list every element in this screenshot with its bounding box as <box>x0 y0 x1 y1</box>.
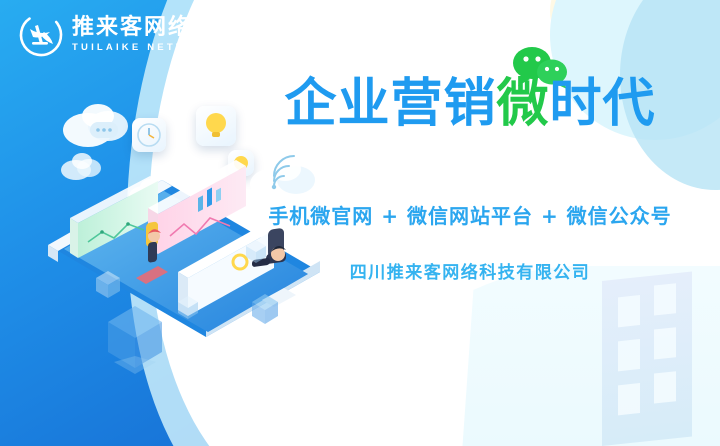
brand-logo[interactable]: 推来客网络 TUILAIKE NETWORK <box>18 12 219 58</box>
banner-content: 企业营销微时代 手机微官网 + 微信网站平台 + 微信公众号 四川推来客网络科技… <box>240 0 710 446</box>
company-name: 四川推来客网络科技有限公司 <box>240 258 700 283</box>
headline-part-1: 企业营销 <box>284 74 496 134</box>
brand-logo-text: 推来客网络 TUILAIKE NETWORK <box>72 17 219 53</box>
brand-name-cn: 推来客网络 <box>72 17 219 39</box>
cloud-wifi-icon <box>248 150 322 206</box>
cloud-chat-icon <box>62 100 136 157</box>
headline-highlight: 微 <box>496 74 549 134</box>
tuilaike-circle-logo-icon <box>18 12 64 58</box>
lightbulb-tile-icon <box>196 106 236 146</box>
page-title: 企业营销微时代 <box>240 78 700 130</box>
banner-subtitle: 手机微官网 + 微信网站平台 + 微信公众号 <box>240 200 700 229</box>
clock-tile-icon <box>132 118 166 152</box>
headline-part-2: 时代 <box>550 74 656 134</box>
banner-canvas: 推来客网络 TUILAIKE NETWORK 企业营销微时代 <box>0 0 720 446</box>
brand-name-en: TUILAIKE NETWORK <box>72 43 219 53</box>
cube-icon <box>100 300 170 385</box>
